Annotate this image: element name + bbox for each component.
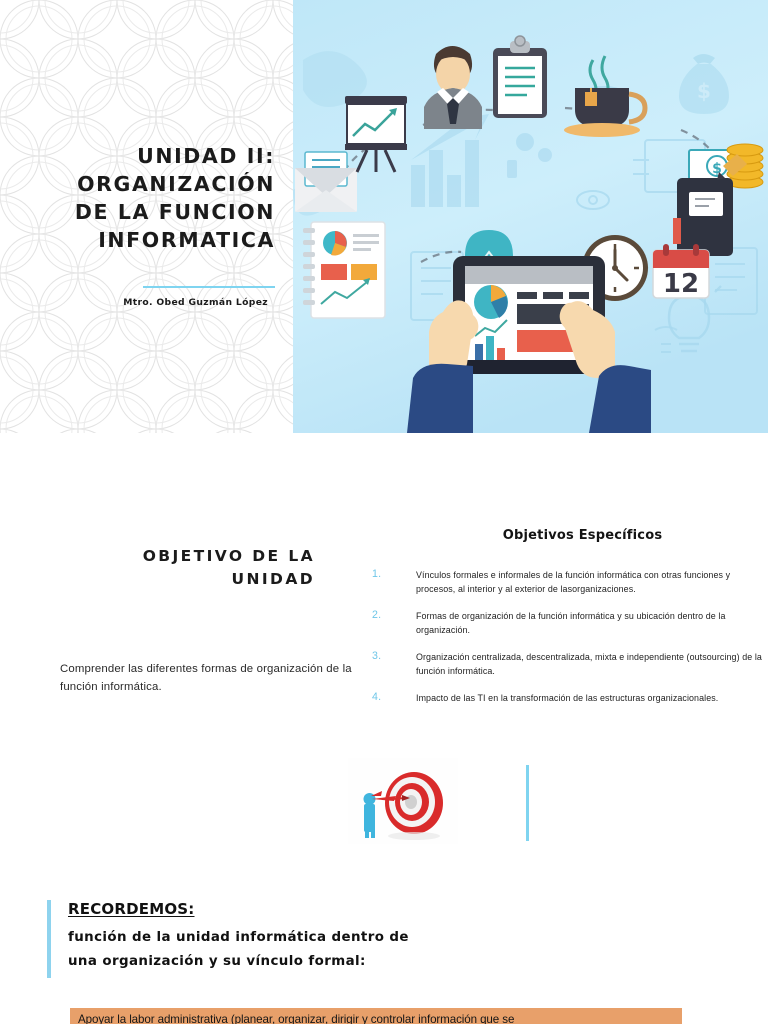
title-line-4: INFORMATICA xyxy=(0,227,275,255)
title-line-1: UNIDAD II: xyxy=(0,143,275,171)
list-item: 2. Formas de organización de la función … xyxy=(372,609,768,638)
highlight-banner: Apoyar la labor administrativa (planear,… xyxy=(70,1008,682,1024)
title-divider xyxy=(143,286,275,288)
list-item-text: Impacto de las TI en la transformación d… xyxy=(416,691,768,705)
unit-objective-body: Comprender las diferentes formas de orga… xyxy=(60,660,360,696)
list-item: 3. Organización centralizada, descentral… xyxy=(372,650,768,679)
unit-objective-heading: OBJETIVO DE LA UNIDAD xyxy=(60,545,315,592)
list-item-text: Vínculos formales e informales de la fun… xyxy=(416,568,768,597)
author-name: Mtro. Obed Guzmán López xyxy=(0,297,268,308)
list-item-text: Formas de organización de la función inf… xyxy=(416,609,768,638)
title-line-2: ORGANIZACIÓN xyxy=(0,171,275,199)
calendar-day-label: 12 xyxy=(663,269,699,299)
title-line-3: DE LA FUNCION xyxy=(0,199,275,227)
presentation-page: UNIDAD II: ORGANIZACIÓN DE LA FUNCION IN… xyxy=(0,0,768,1024)
recordemos-line-1: función de la unidad informática dentro … xyxy=(68,930,628,945)
list-item: 4. Impacto de las TI en la transformació… xyxy=(372,691,768,705)
hero-illustration: $ $ xyxy=(293,0,768,433)
recordemos-accent-bar xyxy=(47,900,51,978)
list-item-text: Organización centralizada, descentraliza… xyxy=(416,650,768,679)
dartboard-target-illustration xyxy=(348,758,458,844)
highlight-banner-text: Apoyar la labor administrativa (planear,… xyxy=(78,1013,678,1024)
target-accent-bar xyxy=(526,765,529,841)
recordemos-slide: RECORDEMOS: función de la unidad informá… xyxy=(0,878,768,1024)
title-heading: UNIDAD II: ORGANIZACIÓN DE LA FUNCION IN… xyxy=(0,143,275,255)
title-slide: UNIDAD II: ORGANIZACIÓN DE LA FUNCION IN… xyxy=(0,0,768,433)
list-item-number: 1. xyxy=(372,568,400,580)
list-item-number: 4. xyxy=(372,691,400,703)
specific-objectives-list: 1. Vínculos formales e informales de la … xyxy=(372,568,768,717)
objectives-slide: OBJETIVO DE LA UNIDAD Comprender las dif… xyxy=(0,433,768,878)
specific-objectives-heading: Objetivos Específicos xyxy=(400,528,765,543)
list-item-number: 2. xyxy=(372,609,400,621)
recordemos-heading: RECORDEMOS: xyxy=(68,900,195,918)
list-item: 1. Vínculos formales e informales de la … xyxy=(372,568,768,597)
recordemos-line-2: una organización y su vínculo formal: xyxy=(68,954,628,969)
svg-text:$: $ xyxy=(697,79,711,103)
list-item-number: 3. xyxy=(372,650,400,662)
